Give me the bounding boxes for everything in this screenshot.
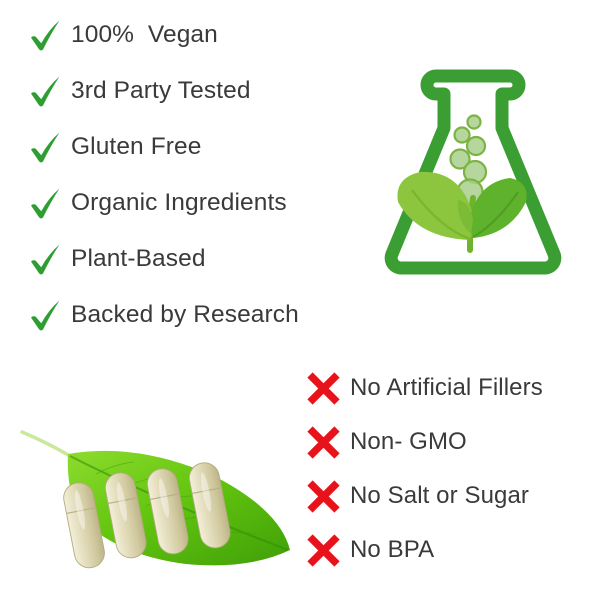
check-row: Plant-Based xyxy=(28,236,206,282)
capsules-on-leaf-photo xyxy=(18,418,308,576)
cross-label: No BPA xyxy=(350,538,434,562)
cross-icon xyxy=(305,370,342,407)
exclusions-list: No Artificial Fillers Non- GMO xyxy=(300,360,600,590)
check-icon xyxy=(28,18,62,52)
flask-with-leaves-icon xyxy=(378,62,568,280)
cross-row: Non- GMO xyxy=(305,420,467,464)
cross-icon xyxy=(305,478,342,515)
check-row: Organic Ingredients xyxy=(28,180,287,226)
check-icon xyxy=(28,242,62,276)
check-row: Gluten Free xyxy=(28,124,201,170)
cross-row: No Salt or Sugar xyxy=(305,474,529,518)
check-icon xyxy=(28,186,62,220)
infographic-canvas: 100% Vegan 3rd Party Tested Gluten Free xyxy=(0,0,600,600)
cross-label: No Salt or Sugar xyxy=(350,484,529,508)
check-label: Gluten Free xyxy=(71,135,201,160)
cross-row: No Artificial Fillers xyxy=(305,366,543,410)
check-label: Organic Ingredients xyxy=(71,191,287,216)
check-row: 3rd Party Tested xyxy=(28,68,251,114)
cross-label: Non- GMO xyxy=(350,430,467,454)
check-label: Plant-Based xyxy=(71,247,206,272)
check-label: Backed by Research xyxy=(71,303,299,328)
cross-row: No BPA xyxy=(305,528,434,572)
check-label: 100% Vegan xyxy=(71,23,218,48)
benefits-checklist: 100% Vegan 3rd Party Tested Gluten Free xyxy=(0,0,380,360)
check-row: 100% Vegan xyxy=(28,12,218,58)
cross-label: No Artificial Fillers xyxy=(350,376,543,400)
check-icon xyxy=(28,74,62,108)
check-label: 3rd Party Tested xyxy=(71,79,251,104)
cross-icon xyxy=(305,532,342,569)
check-icon xyxy=(28,130,62,164)
check-row: Backed by Research xyxy=(28,292,299,338)
check-icon xyxy=(28,298,62,332)
cross-icon xyxy=(305,424,342,461)
